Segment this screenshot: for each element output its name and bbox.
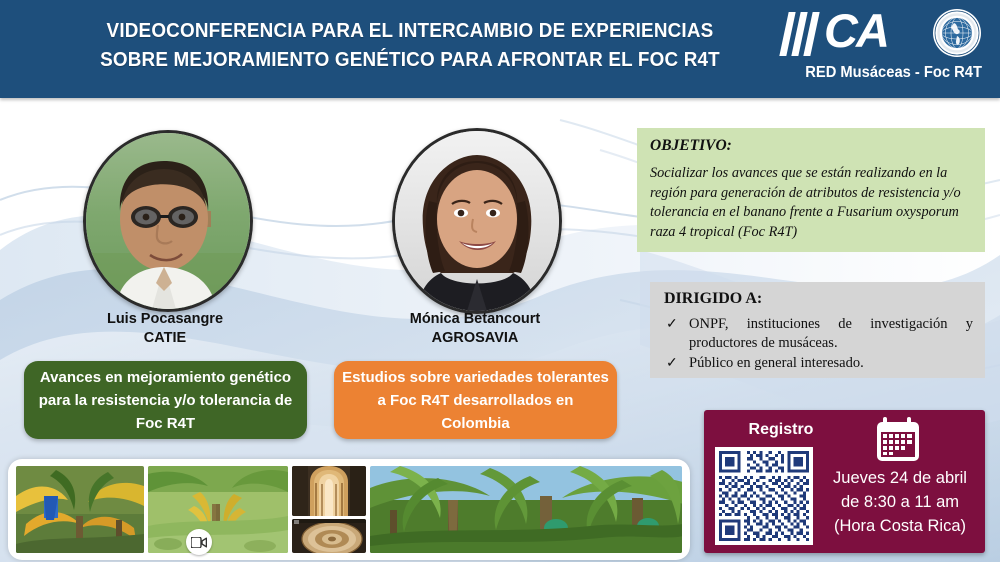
calendar-icon	[874, 417, 922, 463]
registration-date-line-2: de 8:30 a 11 am	[822, 490, 978, 514]
globe-icon	[932, 8, 982, 58]
check-icon: ✓	[666, 315, 678, 334]
registration-date-line-1: Jueves 24 de abril	[822, 466, 978, 490]
audience-item-text: Público en general interesado.	[689, 355, 864, 371]
avatar-speaker-2	[392, 128, 562, 314]
iica-wordmark: CA	[824, 8, 888, 54]
page-title: VIDEOCONFERENCIA PARA EL INTERCAMBIO DE …	[88, 16, 732, 74]
audience-item-text: ONPF, instituciones de investigación y p…	[689, 316, 973, 351]
objective-panel: OBJETIVO: Socializar los avances que se …	[637, 128, 985, 252]
photo-corm-cross-section	[292, 519, 366, 553]
qr-code[interactable]	[715, 447, 813, 545]
talk-title-speaker-1: Avances en mejoramiento genético para la…	[24, 361, 307, 439]
registration-date-line-3: (Hora Costa Rica)	[822, 514, 978, 538]
avatar-speaker-1	[83, 130, 253, 312]
list-item: ✓ Público en general interesado.	[664, 354, 973, 373]
registration-title: Registro	[726, 421, 836, 439]
audience-panel: DIRIGIDO A: ✓ ONPF, instituciones de inv…	[650, 282, 985, 378]
speaker-2-org: AGROSAVIA	[365, 329, 585, 348]
qr-code-svg	[719, 451, 809, 541]
photo-3-svg	[292, 466, 366, 516]
speaker-1-org: CATIE	[55, 329, 275, 348]
audience-list: ✓ ONPF, instituciones de investigación y…	[664, 315, 973, 373]
speaker-1-name-block: Luis Pocasangre CATIE	[55, 310, 275, 348]
poster-header: VIDEOCONFERENCIA PARA EL INTERCAMBIO DE …	[0, 0, 1000, 98]
portrait-photo-1	[86, 133, 250, 309]
speaker-2-name: Mónica Betancourt	[410, 311, 541, 327]
objective-title: OBJETIVO:	[650, 137, 973, 155]
photo-5-svg	[370, 466, 682, 553]
registration-date: Jueves 24 de abril de 8:30 a 11 am (Hora…	[822, 466, 978, 538]
photo-4-svg	[292, 519, 366, 553]
speaker-1-name: Luis Pocasangre	[107, 311, 223, 327]
talk-title-speaker-2: Estudios sobre variedades tolerantes a F…	[334, 361, 617, 439]
photo-2-svg	[148, 466, 288, 553]
audience-title: DIRIGIDO A:	[664, 290, 973, 308]
video-camera-glyph	[191, 537, 207, 548]
list-item: ✓ ONPF, instituciones de investigación y…	[664, 315, 973, 353]
photo-strip	[8, 459, 690, 560]
iica-bars-icon	[784, 12, 828, 56]
portrait-photo-2	[395, 131, 559, 311]
check-icon: ✓	[666, 354, 678, 373]
iica-logo: CA RED Musáceas - Foc R4T	[776, 8, 988, 90]
photo-banana-field-diseased-plant	[148, 466, 288, 553]
photo-pseudostem-cross-section	[292, 466, 366, 516]
logo-subtitle: RED Musáceas - Foc R4T	[786, 64, 982, 82]
title-line-1: VIDEOCONFERENCIA PARA EL INTERCAMBIO DE …	[88, 16, 732, 45]
webinar-poster: VIDEOCONFERENCIA PARA EL INTERCAMBIO DE …	[0, 0, 1000, 562]
photo-banana-plants-yellowing-leaves	[16, 466, 144, 553]
registration-panel: Registro	[704, 410, 985, 553]
title-line-2: SOBRE MEJORAMIENTO GENÉTICO PARA AFRONTA…	[88, 45, 732, 74]
photo-column-cross-sections	[292, 466, 366, 553]
speaker-2-name-block: Mónica Betancourt AGROSAVIA	[365, 310, 585, 348]
objective-text: Socializar los avances que se están real…	[650, 164, 973, 242]
photo-healthy-banana-plantation	[370, 466, 682, 553]
video-camera-icon[interactable]	[186, 529, 212, 555]
photo-1-svg	[16, 466, 144, 553]
